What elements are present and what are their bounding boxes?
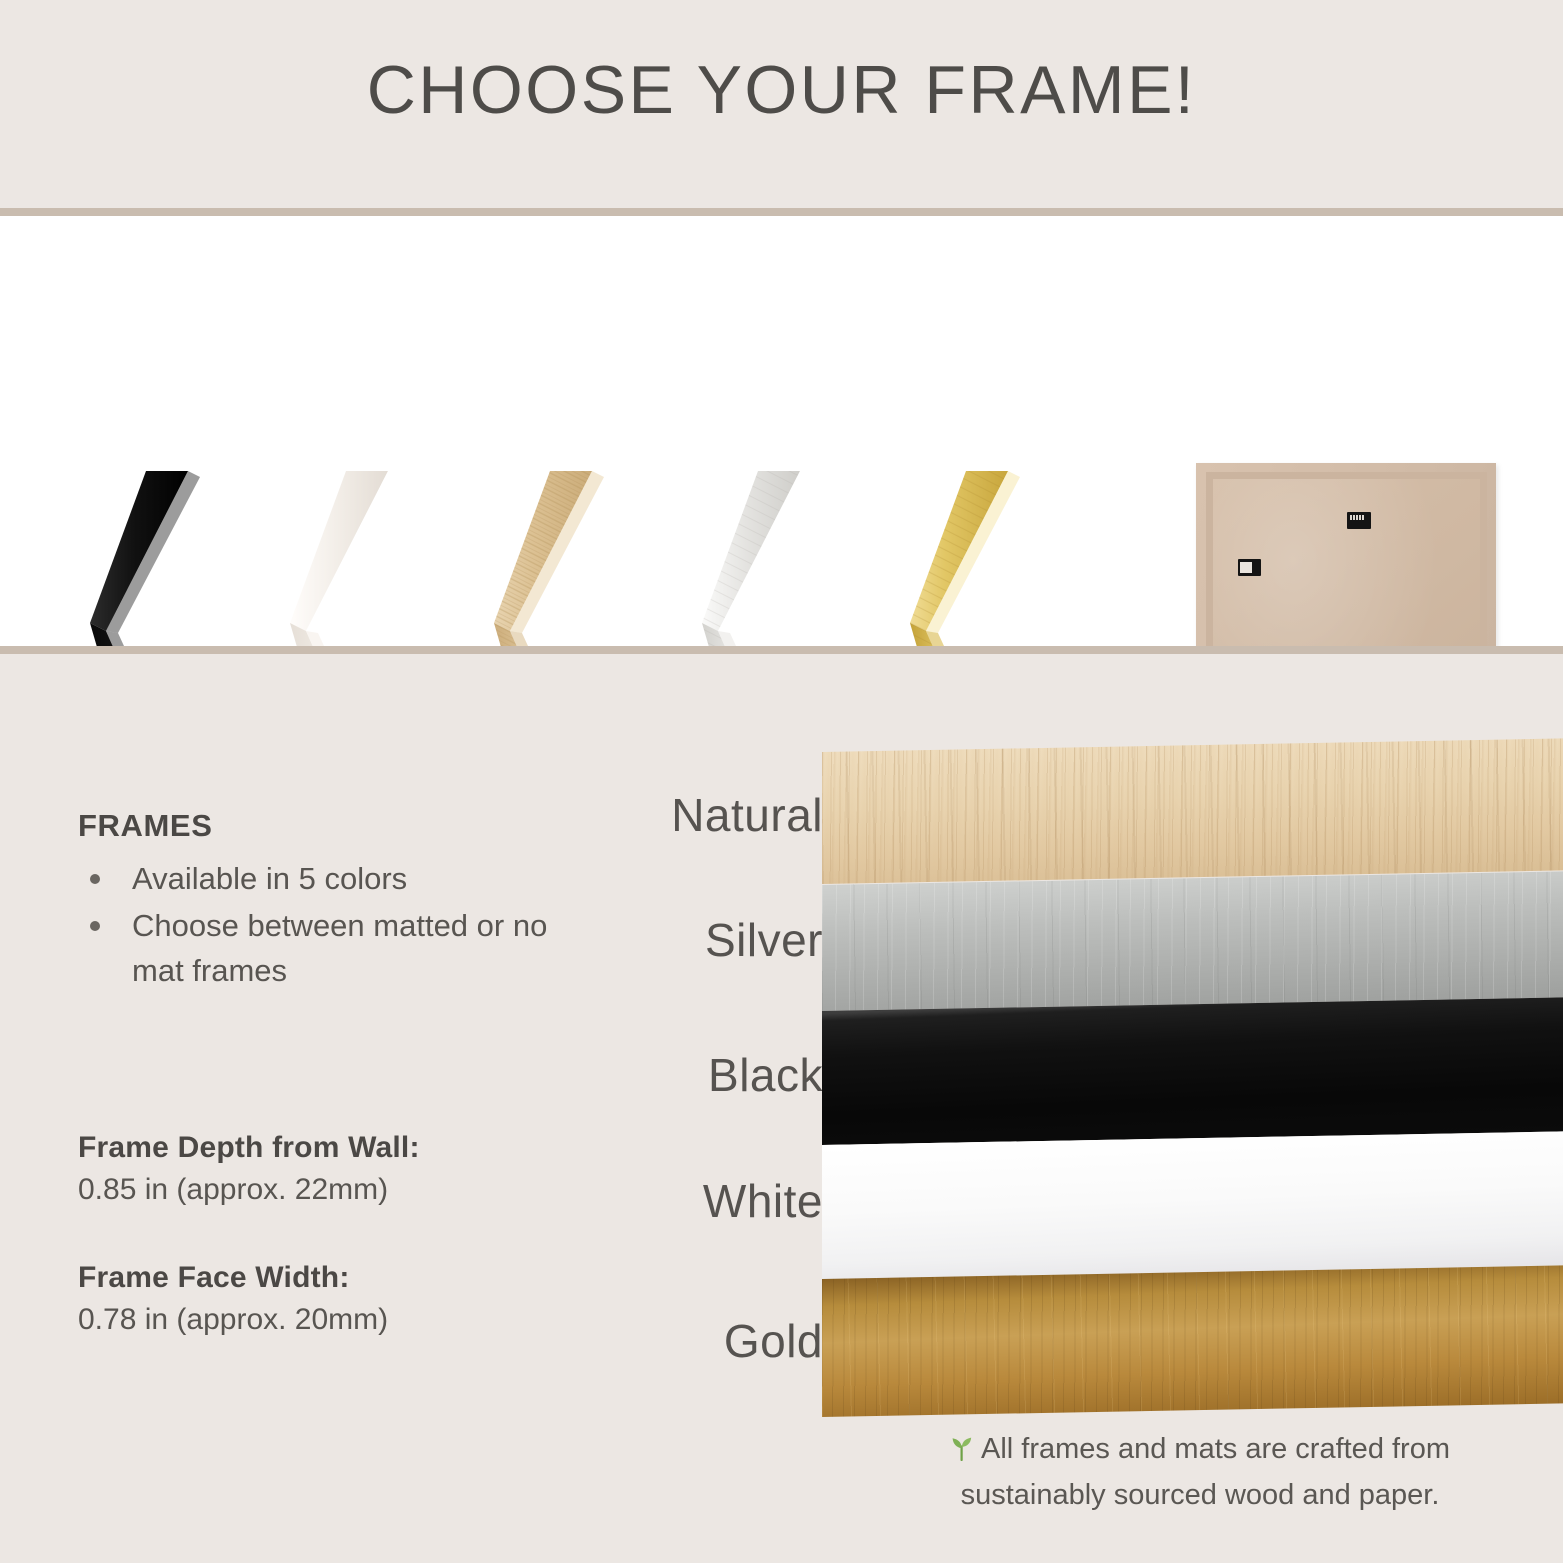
sustainability-note: All frames and mats are crafted from sus… xyxy=(880,1428,1520,1517)
sustainability-line-2: sustainably sourced wood and paper. xyxy=(961,1479,1440,1511)
color-label-white: White xyxy=(403,1178,823,1224)
divider-bottom xyxy=(0,646,1563,654)
bullet-icon xyxy=(90,921,100,931)
bullet-icon xyxy=(90,874,100,884)
metal-grain-texture xyxy=(822,871,1563,1011)
wood-grain-texture xyxy=(822,738,1563,884)
gloss-highlight xyxy=(822,997,1563,1145)
sawtooth-hanger-icon xyxy=(1347,512,1371,529)
color-label-silver: Silver xyxy=(403,917,823,963)
list-item: Available in 5 colors xyxy=(78,856,548,901)
hanging-bracket-icon xyxy=(1238,559,1261,576)
profile-bar-silver[interactable] xyxy=(822,871,1563,1011)
color-label-gold: Gold xyxy=(403,1318,823,1364)
gold-grain-texture xyxy=(822,1265,1563,1417)
color-label-natural: Natural xyxy=(403,792,823,838)
sprout-icon xyxy=(950,1431,974,1474)
color-label-black: Black xyxy=(403,1052,823,1098)
list-item-label: Available in 5 colors xyxy=(132,861,407,896)
header-band: CHOOSE YOUR FRAME! xyxy=(0,0,1563,208)
infographic-page: CHOOSE YOUR FRAME! xyxy=(0,0,1563,1563)
page-title: CHOOSE YOUR FRAME! xyxy=(0,56,1563,124)
divider-top xyxy=(0,208,1563,216)
profile-bar-natural[interactable] xyxy=(822,738,1563,884)
gloss-highlight xyxy=(822,1131,1563,1279)
frames-heading: FRAMES xyxy=(78,808,213,844)
profile-bar-black[interactable] xyxy=(822,997,1563,1145)
spec-label: Frame Face Width: xyxy=(78,1258,598,1298)
profile-bar-gold[interactable] xyxy=(822,1265,1563,1417)
profile-bar-white[interactable] xyxy=(822,1131,1563,1279)
sustainability-line-1: All frames and mats are crafted from xyxy=(981,1433,1450,1465)
frame-profile-stack xyxy=(822,752,1563,1424)
corner-samples-band xyxy=(0,216,1563,646)
spec-label: Frame Depth from Wall: xyxy=(78,1128,598,1168)
